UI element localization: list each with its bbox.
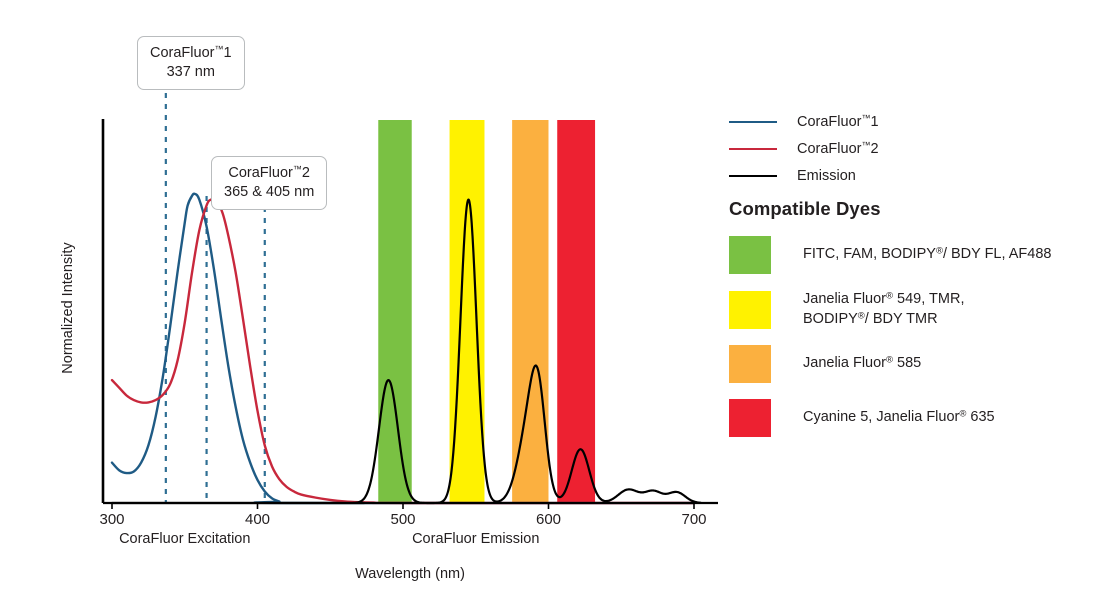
dye-label-line1: Cyanine 5, Janelia Fluor® 635 bbox=[803, 408, 995, 428]
callout-corafluor2: CoraFluor™2 365 & 405 nm bbox=[211, 156, 327, 210]
dye-row-0[interactable]: FITC, FAM, BODIPY®/ BDY FL, AF488 bbox=[729, 236, 1099, 274]
legend-line-swatch bbox=[729, 148, 777, 150]
dye-row-2[interactable]: Janelia Fluor® 585 bbox=[729, 345, 1099, 383]
legend-label-index: 2 bbox=[870, 141, 878, 157]
dye-label: FITC, FAM, BODIPY®/ BDY FL, AF488 bbox=[803, 245, 1051, 265]
legend-line-swatch bbox=[729, 121, 777, 123]
x-axis-tick-label-400: 400 bbox=[228, 511, 288, 528]
legend-label: CoraFluor™2 bbox=[797, 140, 879, 157]
dye-color-swatch bbox=[729, 345, 771, 383]
dye-row-1[interactable]: Janelia Fluor® 549, TMR,BODIPY®/ BDY TMR bbox=[729, 290, 1099, 329]
x-axis-region-label-emission: CoraFluor Emission bbox=[346, 531, 606, 547]
legend-label-text: CoraFluor bbox=[797, 114, 861, 130]
green-band bbox=[378, 120, 411, 503]
registered-icon: ® bbox=[886, 355, 893, 366]
dye-color-swatch bbox=[729, 291, 771, 329]
red-band bbox=[557, 120, 595, 503]
dye-label-line1-suffix: / BDY FL, AF488 bbox=[943, 246, 1052, 262]
dye-label-line2: BODIPY®/ BDY TMR bbox=[803, 310, 964, 330]
chart-canvas: CoraFluor™1 337 nm CoraFluor™2 365 & 405… bbox=[0, 0, 1110, 612]
orange-band bbox=[512, 120, 548, 503]
compatible-dyes-panel: Compatible Dyes FITC, FAM, BODIPY®/ BDY … bbox=[729, 198, 1099, 453]
legend-row-0[interactable]: CoraFluor™1 bbox=[729, 108, 1089, 135]
registered-icon: ® bbox=[936, 245, 943, 256]
x-axis-region-label-excitation: CoraFluor Excitation bbox=[0, 531, 370, 547]
y-axis-title: Normalized Intensity bbox=[60, 218, 76, 398]
x-axis-tick-label-700: 700 bbox=[664, 511, 724, 528]
dye-label-line1-text: Janelia Fluor bbox=[803, 355, 886, 371]
registered-icon: ® bbox=[886, 290, 893, 301]
legend-row-2[interactable]: Emission bbox=[729, 162, 1089, 189]
x-axis-title: Wavelength (nm) bbox=[0, 566, 820, 582]
callout-corafluor2-index: 2 bbox=[302, 165, 310, 181]
x-axis-tick-label-500: 500 bbox=[373, 511, 433, 528]
callout-corafluor2-value: 365 & 405 nm bbox=[224, 183, 314, 202]
legend-label-index: 1 bbox=[870, 114, 878, 130]
dye-label: Janelia Fluor® 549, TMR,BODIPY®/ BDY TMR bbox=[803, 290, 964, 329]
dye-label-line1-text: Janelia Fluor bbox=[803, 291, 886, 307]
callout-corafluor2-line1: CoraFluor™2 bbox=[224, 164, 314, 183]
legend-label: CoraFluor™1 bbox=[797, 113, 879, 130]
series-legend: CoraFluor™1CoraFluor™2Emission bbox=[729, 108, 1089, 189]
trademark-icon: ™ bbox=[293, 164, 302, 174]
dye-label-line2-text: BODIPY bbox=[803, 311, 858, 327]
dye-label-line1: FITC, FAM, BODIPY®/ BDY FL, AF488 bbox=[803, 245, 1051, 265]
dye-color-swatch bbox=[729, 236, 771, 274]
emission-bands-group bbox=[378, 120, 595, 503]
legend-line-swatch bbox=[729, 175, 777, 177]
dye-color-swatch bbox=[729, 399, 771, 437]
dye-label: Cyanine 5, Janelia Fluor® 635 bbox=[803, 408, 995, 428]
dye-row-3[interactable]: Cyanine 5, Janelia Fluor® 635 bbox=[729, 399, 1099, 437]
dye-label-line1: Janelia Fluor® 549, TMR, bbox=[803, 290, 964, 310]
dye-label-line1-suffix: 585 bbox=[893, 355, 921, 371]
callout-corafluor1-line1: CoraFluor™1 bbox=[150, 44, 232, 63]
excitation-marker-lines-group bbox=[166, 93, 265, 503]
legend-label-text: CoraFluor bbox=[797, 141, 861, 157]
legend-label-text: Emission bbox=[797, 168, 856, 184]
x-axis-tick-label-300: 300 bbox=[82, 511, 142, 528]
callout-corafluor1-index: 1 bbox=[223, 45, 231, 61]
callout-corafluor1-value: 337 nm bbox=[150, 63, 232, 82]
legend-label: Emission bbox=[797, 168, 856, 184]
legend-row-1[interactable]: CoraFluor™2 bbox=[729, 135, 1089, 162]
x-axis-tick-label-600: 600 bbox=[519, 511, 579, 528]
dye-label-line1-suffix: 549, TMR, bbox=[893, 291, 964, 307]
dye-label-line2-suffix: / BDY TMR bbox=[865, 311, 938, 327]
compatible-dyes-list: FITC, FAM, BODIPY®/ BDY FL, AF488Janelia… bbox=[729, 236, 1099, 437]
compatible-dyes-title: Compatible Dyes bbox=[729, 198, 1099, 220]
dye-label-line1-text: Cyanine 5, Janelia Fluor bbox=[803, 409, 959, 425]
callout-corafluor1-name: CoraFluor bbox=[150, 45, 214, 61]
dye-label-line1: Janelia Fluor® 585 bbox=[803, 354, 921, 374]
callout-corafluor1: CoraFluor™1 337 nm bbox=[137, 36, 245, 90]
dye-label-line1-text: FITC, FAM, BODIPY bbox=[803, 246, 936, 262]
registered-icon: ® bbox=[858, 310, 865, 321]
callout-corafluor2-name: CoraFluor bbox=[228, 165, 292, 181]
dye-label: Janelia Fluor® 585 bbox=[803, 354, 921, 374]
dye-label-line1-suffix: 635 bbox=[966, 409, 994, 425]
